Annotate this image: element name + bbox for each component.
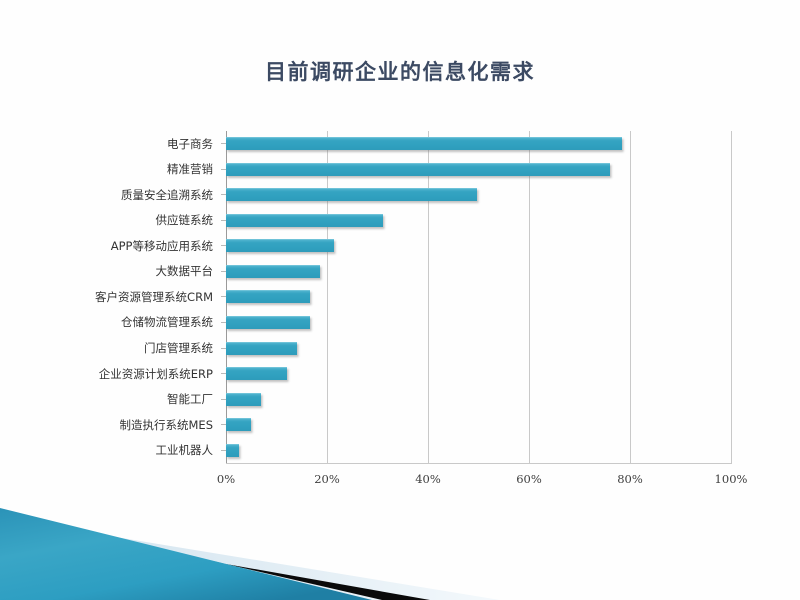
category-label: 工业机器人 [20,437,220,463]
category-label: 精准营销 [20,157,220,183]
bar[interactable] [226,188,477,201]
bar-row[interactable] [226,131,731,157]
x-axis-tick-label: 60% [516,472,542,486]
category-label: 质量安全追溯系统 [20,182,220,208]
bar[interactable] [226,418,251,431]
x-axis-tick-label: 20% [314,472,340,486]
bar-row[interactable] [226,361,731,387]
slide-decoration-band [0,490,800,600]
bar[interactable] [226,367,287,380]
bar[interactable] [226,444,239,457]
bar-row[interactable] [226,437,731,463]
bar-row[interactable] [226,157,731,183]
x-axis-tick-label: 40% [415,472,441,486]
y-axis-tick [221,296,226,297]
bar-rows [226,131,731,463]
category-label: 门店管理系统 [20,335,220,361]
bar[interactable] [226,265,320,278]
decoration-teal-triangle [0,508,372,600]
bar-row[interactable] [226,310,731,336]
category-label: 客户资源管理系统CRM [20,284,220,310]
y-axis-tick [221,271,226,272]
bar[interactable] [226,316,310,329]
y-axis-tick [221,169,226,170]
category-label: 电子商务 [20,131,220,157]
y-axis-tick [221,424,226,425]
x-axis-tick-label: 80% [617,472,643,486]
gridline-100% [731,131,732,463]
x-axis-line [226,463,732,464]
bar[interactable] [226,137,622,150]
category-label: 仓储物流管理系统 [20,310,220,336]
plot-area [226,131,731,463]
bar[interactable] [226,163,610,176]
category-label: 大数据平台 [20,259,220,285]
bar[interactable] [226,290,310,303]
bar[interactable] [226,393,261,406]
bar-row[interactable] [226,335,731,361]
x-axis-tick-label: 100% [715,472,748,486]
category-label: APP等移动应用系统 [20,233,220,259]
decoration-light-stripe [0,518,500,600]
y-axis-tick [221,322,226,323]
y-axis-tick [221,194,226,195]
bar-row[interactable] [226,259,731,285]
bar[interactable] [226,239,334,252]
bar-chart: 电子商务精准营销质量安全追溯系统供应链系统APP等移动应用系统大数据平台客户资源… [0,118,800,498]
bar-row[interactable] [226,412,731,438]
category-axis-labels: 电子商务精准营销质量安全追溯系统供应链系统APP等移动应用系统大数据平台客户资源… [20,131,220,463]
bar-row[interactable] [226,284,731,310]
y-axis-tick [221,399,226,400]
y-axis-tick [221,220,226,221]
page-title: 目前调研企业的信息化需求 [0,56,800,86]
y-axis-tick [221,245,226,246]
decoration-black-stripe [0,512,430,600]
category-label: 企业资源计划系统ERP [20,361,220,387]
bar-row[interactable] [226,208,731,234]
decoration-svg [0,490,800,600]
category-label: 供应链系统 [20,208,220,234]
bar-row[interactable] [226,182,731,208]
bar-row[interactable] [226,386,731,412]
x-axis-tick-label: 0% [217,472,235,486]
value-axis-labels: 0%20%40%60%80%100% [226,468,731,492]
y-axis-tick [221,348,226,349]
category-label: 制造执行系统MES [20,412,220,438]
bar[interactable] [226,342,297,355]
category-label: 智能工厂 [20,386,220,412]
slide-canvas: 目前调研企业的信息化需求 电子商务精准营销质量安全追溯系统供应链系统APP等移动… [0,0,800,600]
y-axis-tick [221,373,226,374]
y-axis-tick [221,450,226,451]
y-axis-tick [221,143,226,144]
bar[interactable] [226,214,383,227]
bar-row[interactable] [226,233,731,259]
